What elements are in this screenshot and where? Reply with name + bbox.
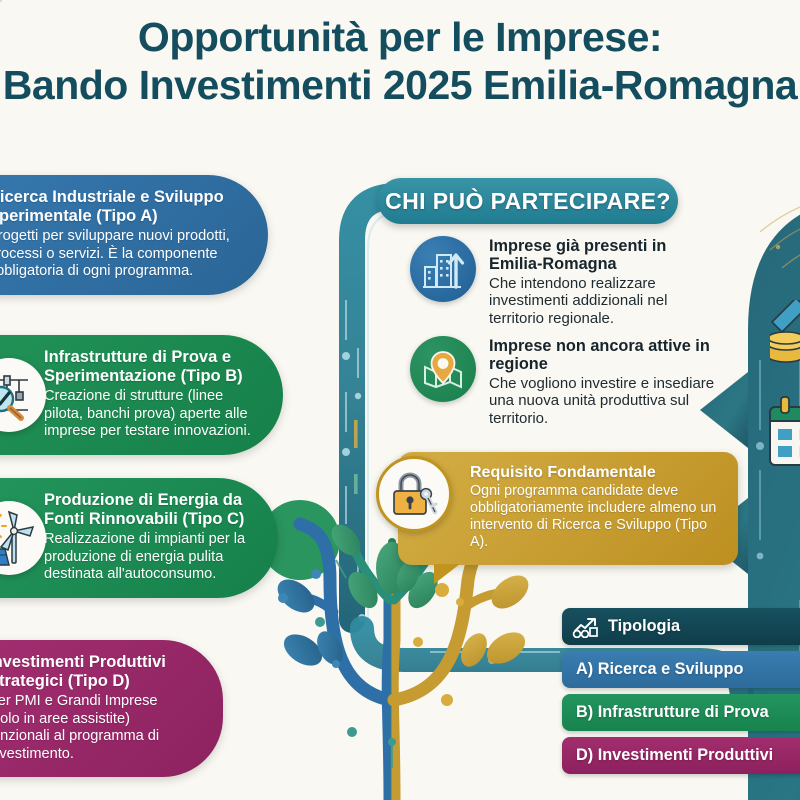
solar-wind-icon [0, 501, 46, 575]
table-row-d-label: D) Investimenti Produttivi [576, 746, 773, 765]
requirement-callout: Requisito Fondamentale Ogni programma ca… [398, 452, 738, 565]
participants-header-label: CHI PUÒ PARTECIPARE? [385, 188, 671, 215]
magnifier-check-icon [0, 358, 46, 432]
card-tipo-d-body: Per PMI e Grandi Imprese (solo in aree a… [0, 693, 193, 763]
card-tipo-d[interactable]: Investimenti Produttivi Strategici (Tipo… [0, 640, 223, 777]
card-tipo-c[interactable]: Produzione di Energia da Fonti Rinnovabi… [0, 478, 278, 598]
card-tipo-a-heading: Ricerca Industriale e Sviluppo Speriment… [0, 188, 238, 226]
table-header-label: Tipologia [608, 617, 680, 636]
participant-item-new: Imprese non ancora attive in regione Che… [410, 336, 720, 428]
card-tipo-a[interactable]: Ricerca Industriale e Sviluppo Speriment… [0, 175, 268, 295]
participants-header-pill: CHI PUÒ PARTECIPARE? [378, 178, 678, 224]
card-tipo-d-heading: Investimenti Produttivi Strategici (Tipo… [0, 653, 193, 691]
participant-1-body: Che intendono realizzare investimenti ad… [489, 275, 720, 328]
requirement-heading: Requisito Fondamentale [470, 464, 722, 482]
card-tipo-b-heading: Infrastrutture di Prova e Sperimentazion… [44, 348, 253, 386]
table-row-d[interactable]: D) Investimenti Produttivi [562, 737, 800, 774]
card-tipo-c-heading: Produzione di Energia da Fonti Rinnovabi… [44, 491, 248, 529]
table-header-row: Tipologia [562, 608, 800, 645]
participant-2-body: Che vogliono investire e insediare una n… [489, 375, 720, 428]
participant-1-heading: Imprese già presenti in Emilia-Romagna [489, 237, 720, 274]
card-tipo-a-body: Progetti per sviluppare nuovi prodotti, … [0, 228, 238, 281]
table-row-b-label: B) Infrastrutture di Prova [576, 703, 769, 722]
typology-table: Tipologia A) Ricerca e Sviluppo B) Infra… [562, 608, 800, 780]
table-row-a-label: A) Ricerca e Sviluppo [576, 660, 743, 679]
card-tipo-b-body: Creazione di strutture (linee pilota, ba… [44, 388, 253, 441]
infographic-canvas: Opportunità per le Imprese: Bando Invest… [0, 0, 800, 800]
card-tipo-b[interactable]: Infrastrutture di Prova e Sperimentazion… [0, 335, 283, 455]
lock-key-icon [376, 456, 452, 532]
table-row-b[interactable]: B) Infrastrutture di Prova [562, 694, 800, 731]
title-line-1: Opportunità per le Imprese: [0, 16, 800, 59]
building-growth-icon [410, 236, 476, 302]
map-pin-icon [410, 336, 476, 402]
page-title: Opportunità per le Imprese: Bando Invest… [0, 16, 800, 108]
growth-chart-icon [572, 616, 600, 638]
title-line-2: Bando Investimenti 2025 Emilia-Romagna [0, 64, 800, 107]
card-tipo-c-body: Realizzazione di impianti per la produzi… [44, 531, 248, 584]
coins-icon [770, 300, 800, 375]
calendar-icon [768, 395, 800, 480]
participant-item-existing: Imprese già presenti in Emilia-Romagna C… [410, 236, 720, 328]
participant-2-heading: Imprese non ancora attive in regione [489, 337, 720, 374]
requirement-body: Ogni programma candidate deve obbligator… [470, 483, 722, 552]
table-row-a[interactable]: A) Ricerca e Sviluppo [562, 651, 800, 688]
